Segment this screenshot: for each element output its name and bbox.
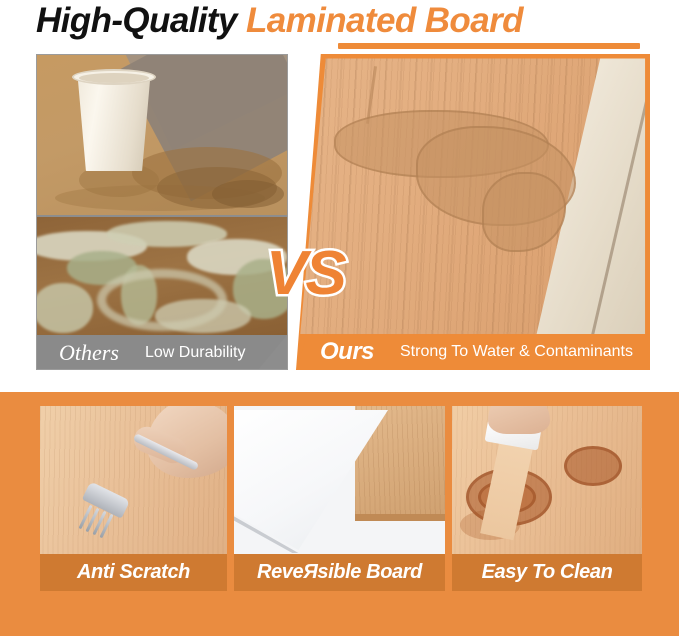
paper-cup-opening [79,73,149,83]
page-title: High-Quality Laminated Board [36,1,523,41]
mold-growth-photo [37,217,287,335]
title-part-primary: High-Quality [36,1,246,40]
others-tagline: Low Durability [145,344,245,362]
feature-label-text: ReveЯsible Board [257,561,422,584]
product-infographic: High-Quality Laminated Board [0,0,679,636]
spill-stain [212,180,284,208]
mold-patch [37,283,93,333]
ours-label: Ours [320,338,374,366]
ours-tagline: Strong To Water & Contaminants [400,343,633,361]
hand [488,406,550,434]
wood-board-edge [355,514,445,521]
others-panel: Others Low Durability [36,54,288,370]
paper-cup-spill-photo [37,55,287,215]
paper-cup [75,73,153,171]
feature-label-reversible-board: ReveЯsible Board [234,554,445,591]
ours-banner: Ours Strong To Water & Contaminants [296,334,650,370]
features-section: Anti Scratch ReveЯsible Board [0,392,679,636]
title-part-accent: Laminated Board [246,1,523,40]
feature-card-reversible-board: ReveЯsible Board [234,406,445,591]
feature-label-anti-scratch: Anti Scratch [40,554,227,591]
feature-label-easy-to-clean: Easy To Clean [452,554,642,591]
water-beading-photo [296,54,650,334]
mold-ring [97,269,227,331]
others-banner: Others Low Durability [37,335,287,370]
feature-label-text: Easy To Clean [482,561,613,584]
fork-scratch-photo [40,406,227,554]
vs-badge: VS [266,238,345,309]
others-label: Others [59,340,119,366]
title-underline-bar [338,43,640,49]
liquid-stain [564,446,622,486]
wipe-clean-photo [452,406,642,554]
header: High-Quality Laminated Board [0,0,679,52]
feature-label-text: Anti Scratch [77,561,190,584]
feature-card-easy-to-clean: Easy To Clean [452,406,642,591]
comparison-section: Others Low Durability Ours Strong To Wat… [0,52,679,374]
ours-panel: Ours Strong To Water & Contaminants [296,54,650,370]
reversible-board-photo [234,406,445,554]
feature-card-anti-scratch: Anti Scratch [40,406,227,591]
